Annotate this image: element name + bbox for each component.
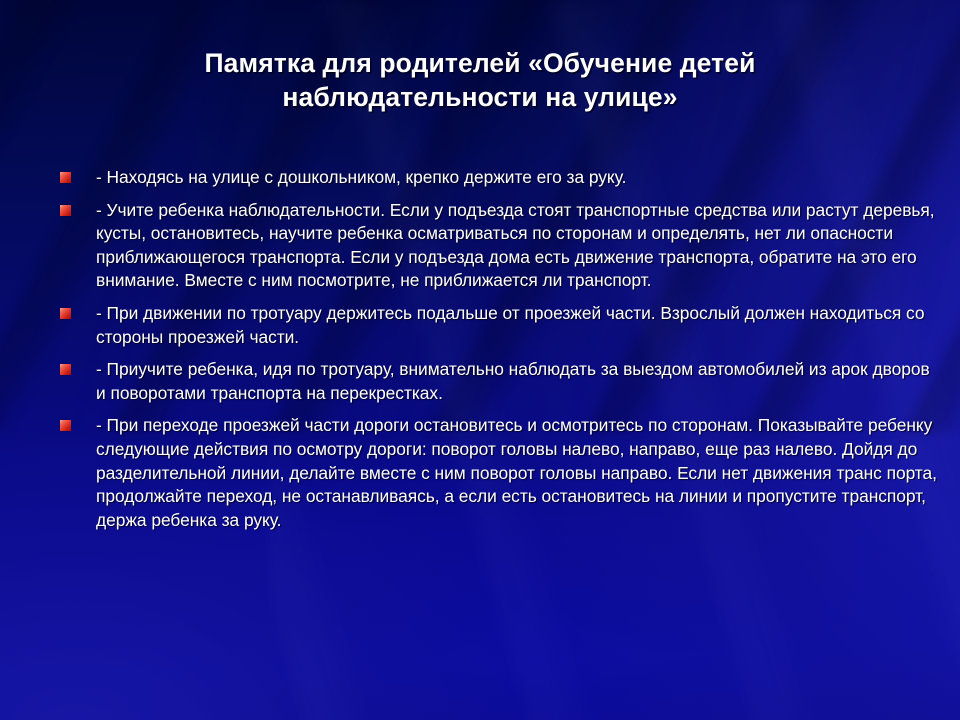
slide-title: Памятка для родителей «Обучение детей на… bbox=[78, 46, 882, 114]
list-item: - При движении по тротуару держитесь под… bbox=[58, 302, 942, 349]
red-square-bullet-icon bbox=[60, 420, 71, 431]
red-square-bullet-icon bbox=[60, 364, 71, 375]
list-item: - Находясь на улице с дошкольником, креп… bbox=[58, 166, 942, 190]
list-item-text: - Приучите ребенка, идя по тротуару, вни… bbox=[96, 358, 942, 405]
list-item: - Приучите ребенка, идя по тротуару, вни… bbox=[58, 358, 942, 405]
list-item-text: - При движении по тротуару держитесь под… bbox=[96, 302, 942, 349]
presentation-slide: Памятка для родителей «Обучение детей на… bbox=[0, 0, 960, 720]
red-square-bullet-icon bbox=[60, 172, 71, 183]
list-item: - Учите ребенка наблюдательности. Если у… bbox=[58, 199, 942, 293]
red-square-bullet-icon bbox=[60, 308, 71, 319]
list-item-text: - Учите ребенка наблюдательности. Если у… bbox=[96, 199, 942, 293]
list-item-text: - При переходе проезжей части дороги ост… bbox=[96, 414, 942, 532]
bullet-list: - Находясь на улице с дошкольником, креп… bbox=[58, 166, 942, 532]
red-square-bullet-icon bbox=[60, 205, 71, 216]
list-item-text: - Находясь на улице с дошкольником, креп… bbox=[96, 166, 942, 190]
slide-title-text: Памятка для родителей «Обучение детей на… bbox=[78, 46, 882, 114]
list-item: - При переходе проезжей части дороги ост… bbox=[58, 414, 942, 532]
